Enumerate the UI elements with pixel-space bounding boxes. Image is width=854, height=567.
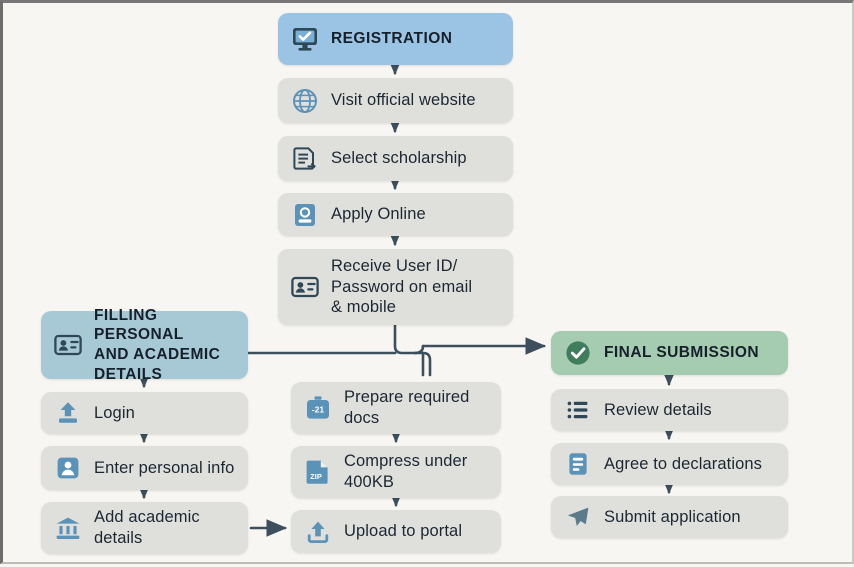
upload-icon xyxy=(303,517,333,547)
step-apply-online[interactable]: Apply Online xyxy=(278,193,513,236)
person-square-icon xyxy=(53,453,83,483)
svg-text:-21: -21 xyxy=(312,404,325,414)
step-label: Apply Online xyxy=(331,204,426,225)
step-label: Visit official website xyxy=(331,90,476,111)
document-select-icon xyxy=(290,144,320,174)
step-label: Enter personal info xyxy=(94,458,234,479)
id-card-icon xyxy=(53,330,83,360)
briefcase-icon: -21 xyxy=(303,393,333,423)
step-add-academic-details[interactable]: Add academic details xyxy=(41,502,248,554)
zip-file-icon: ZIP xyxy=(303,457,333,487)
header-filling-personal-academic[interactable]: FILLING PERSONAL AND ACADEMIC DETAILS xyxy=(41,311,248,379)
step-label: Receive User ID/ Password on email & mob… xyxy=(331,256,472,318)
check-circle-icon xyxy=(563,338,593,368)
id-card-icon xyxy=(290,272,320,302)
step-label: Review details xyxy=(604,400,712,421)
step-upload-to-portal[interactable]: Upload to portal xyxy=(291,510,501,553)
step-receive-credentials[interactable]: Receive User ID/ Password on email & mob… xyxy=(278,249,513,325)
step-compress-under-400kb[interactable]: ZIP Compress under 400KB xyxy=(291,446,501,498)
list-icon xyxy=(563,395,593,425)
header-registration-label: REGISTRATION xyxy=(331,29,452,49)
step-label: Select scholarship xyxy=(331,148,467,169)
step-enter-personal-info[interactable]: Enter personal info xyxy=(41,446,248,490)
institution-icon xyxy=(53,513,83,543)
step-label: Agree to declarations xyxy=(604,454,762,475)
step-label: Compress under 400KB xyxy=(344,451,491,493)
step-review-details[interactable]: Review details xyxy=(551,389,788,431)
step-label: Prepare required docs xyxy=(344,387,491,429)
step-label: Add academic details xyxy=(94,507,238,549)
paper-plane-icon xyxy=(563,502,593,532)
step-visit-official-website[interactable]: Visit official website xyxy=(278,78,513,123)
svg-text:ZIP: ZIP xyxy=(310,472,322,481)
step-login[interactable]: Login xyxy=(41,392,248,434)
monitor-check-icon xyxy=(290,24,320,54)
step-select-scholarship[interactable]: Select scholarship xyxy=(278,136,513,181)
globe-icon xyxy=(290,86,320,116)
step-prepare-required-docs[interactable]: -21 Prepare required docs xyxy=(291,382,501,434)
step-agree-to-declarations[interactable]: Agree to declarations xyxy=(551,443,788,485)
profile-card-icon xyxy=(290,200,320,230)
header-filling-label: FILLING PERSONAL AND ACADEMIC DETAILS xyxy=(94,306,238,384)
header-final-label: FINAL SUBMISSION xyxy=(604,343,759,363)
login-arrow-icon xyxy=(53,398,83,428)
step-submit-application[interactable]: Submit application xyxy=(551,496,788,538)
document-lines-icon xyxy=(563,449,593,479)
step-label: Submit application xyxy=(604,507,741,528)
flowchart-canvas: REGISTRATION Visit official website Sele xyxy=(0,0,854,564)
header-registration[interactable]: REGISTRATION xyxy=(278,13,513,65)
header-final-submission[interactable]: FINAL SUBMISSION xyxy=(551,331,788,375)
step-label: Login xyxy=(94,403,135,424)
step-label: Upload to portal xyxy=(344,521,462,542)
